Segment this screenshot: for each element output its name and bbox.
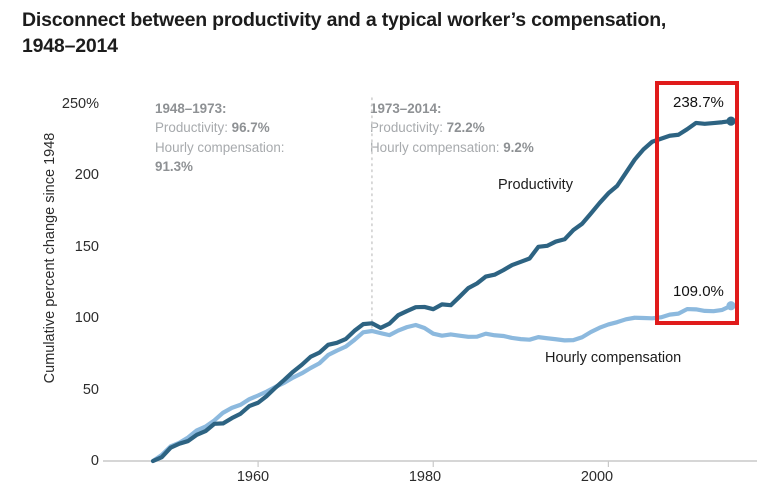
series-label-hourly-compensation: Hourly compensation [545,350,681,366]
series-line-productivity [153,121,731,461]
chart-canvas [0,0,767,502]
series-label-productivity: Productivity [498,177,573,193]
series-line-compensation [153,306,731,461]
chart-plot-area: Cumulative percent change since 1948 250… [0,0,767,502]
highlight-box [655,81,739,325]
